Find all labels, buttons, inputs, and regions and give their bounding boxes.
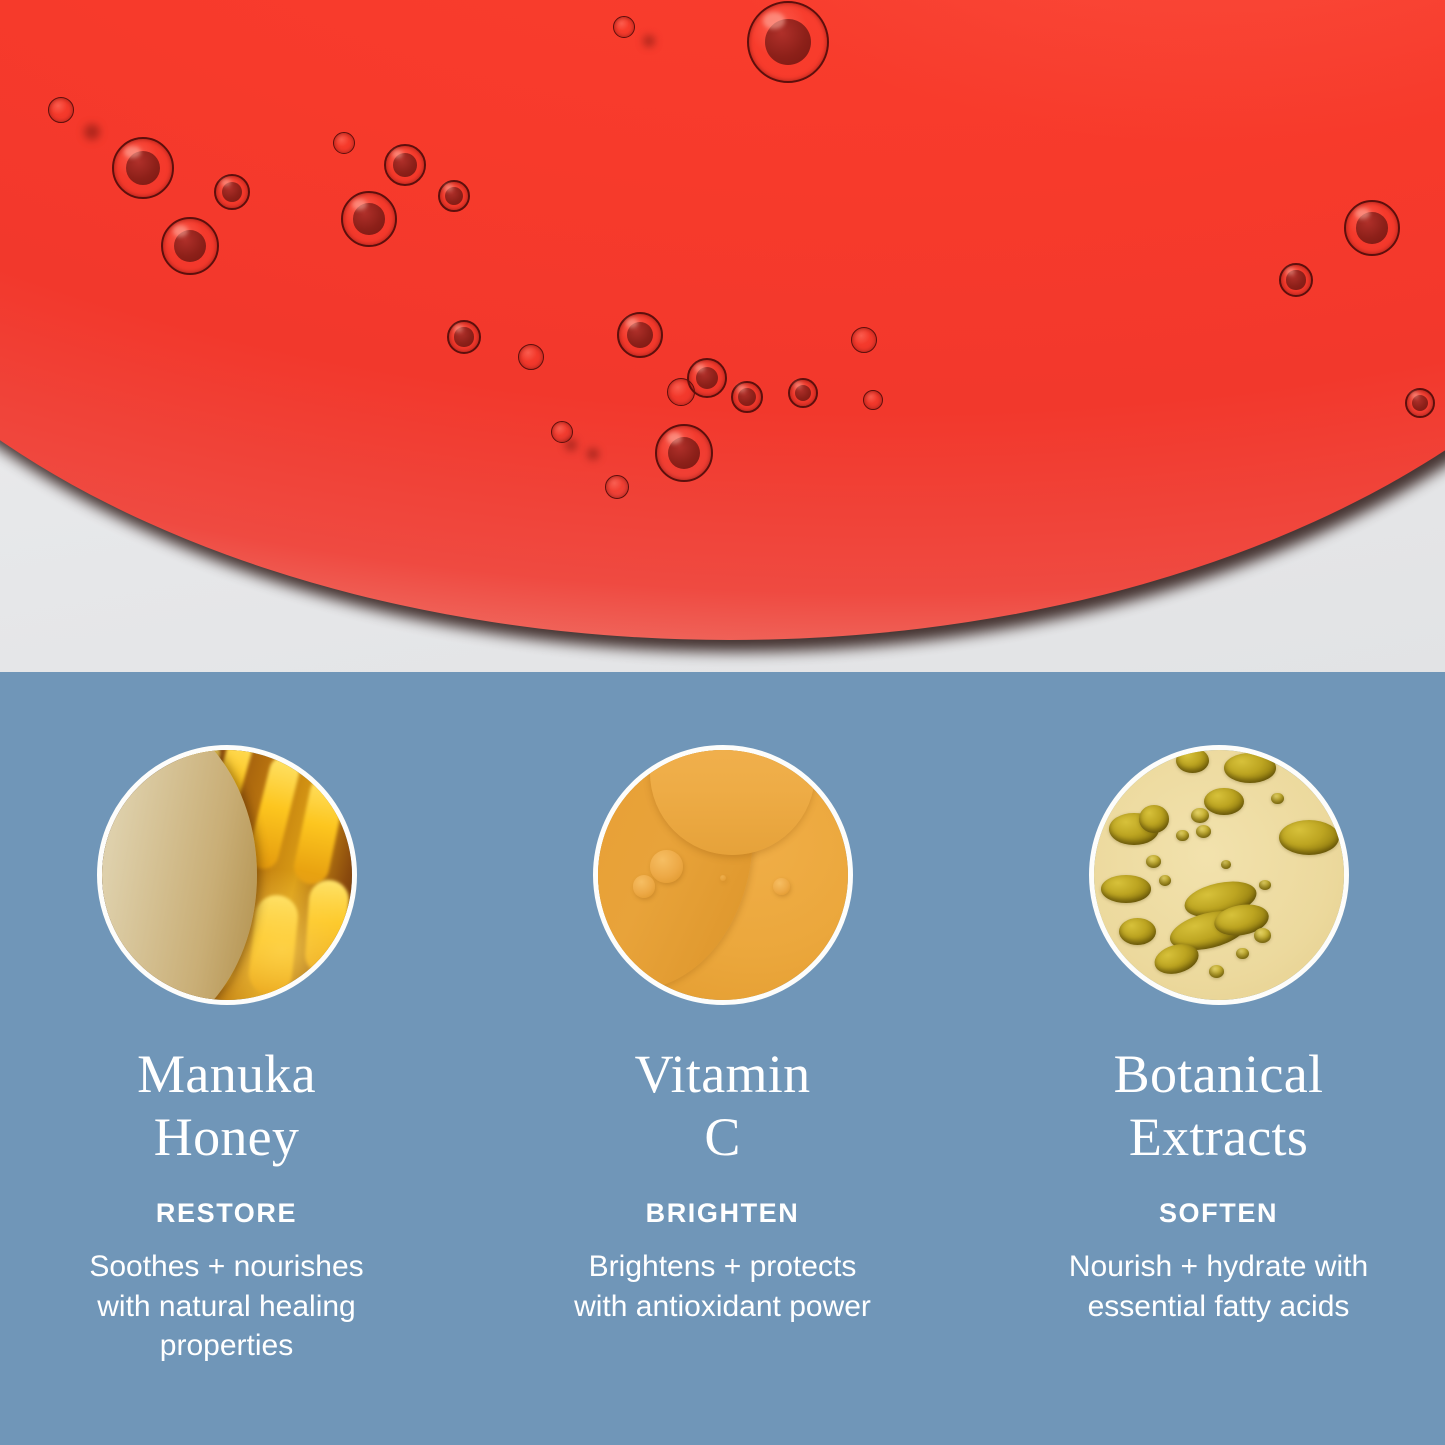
- liquid-bubble: [551, 421, 573, 443]
- ingredient-title: BotanicalExtracts: [1049, 1043, 1389, 1168]
- ingredient-benefit: SOFTEN: [1049, 1198, 1389, 1229]
- ingredient-description: Soothes + nourishes with natural healing…: [72, 1247, 382, 1365]
- liquid-bubble: [731, 381, 763, 413]
- liquid-bubble: [605, 475, 629, 499]
- bubble-shadow-dot: [643, 35, 655, 47]
- liquid-bubble: [518, 344, 544, 370]
- hero-serum-photo: [0, 0, 1445, 672]
- vitamin-c-swatch-icon: [593, 745, 853, 1005]
- liquid-bubble: [617, 312, 663, 358]
- liquid-bubble: [851, 327, 877, 353]
- bubble-shadow-dot: [84, 124, 100, 140]
- liquid-bubble: [655, 424, 713, 482]
- liquid-bubble: [747, 1, 829, 83]
- liquid-bubble: [1405, 388, 1435, 418]
- botanical-extracts-swatch-icon: [1089, 745, 1349, 1005]
- liquid-bubble: [667, 378, 695, 406]
- ingredient-column-vitamin-c: VitaminC BRIGHTEN Brightens + protects w…: [553, 745, 893, 1365]
- manuka-honey-swatch-icon: [97, 745, 357, 1005]
- ingredient-benefit: RESTORE: [57, 1198, 397, 1229]
- liquid-bubble: [438, 180, 470, 212]
- ingredient-benefit: BRIGHTEN: [553, 1198, 893, 1229]
- ingredient-description: Nourish + hydrate with essential fatty a…: [1064, 1247, 1374, 1326]
- red-serum-disc: [0, 0, 1445, 640]
- liquid-bubble: [112, 137, 174, 199]
- liquid-bubble: [863, 390, 883, 410]
- liquid-bubble: [214, 174, 250, 210]
- liquid-bubble: [161, 217, 219, 275]
- product-ingredient-infographic: ManukaHoney RESTORE Soothes + nourishes …: [0, 0, 1445, 1445]
- liquid-bubble: [341, 191, 397, 247]
- liquid-bubble: [1279, 263, 1313, 297]
- liquid-bubble: [48, 97, 74, 123]
- liquid-bubble: [447, 320, 481, 354]
- ingredient-title: VitaminC: [553, 1043, 893, 1168]
- ingredient-description: Brightens + protects with antioxidant po…: [568, 1247, 878, 1326]
- ingredient-columns: ManukaHoney RESTORE Soothes + nourishes …: [0, 672, 1445, 1365]
- liquid-bubble: [1344, 200, 1400, 256]
- liquid-bubble: [384, 144, 426, 186]
- disc-surface: [0, 0, 1445, 640]
- ingredient-column-manuka-honey: ManukaHoney RESTORE Soothes + nourishes …: [57, 745, 397, 1365]
- liquid-bubble: [613, 16, 635, 38]
- ingredients-panel: ManukaHoney RESTORE Soothes + nourishes …: [0, 672, 1445, 1445]
- ingredient-title: ManukaHoney: [57, 1043, 397, 1168]
- ingredient-column-botanical-extracts: BotanicalExtracts SOFTEN Nourish + hydra…: [1049, 745, 1389, 1365]
- bubble-shadow-dot: [587, 448, 599, 460]
- liquid-bubble: [788, 378, 818, 408]
- liquid-bubble: [333, 132, 355, 154]
